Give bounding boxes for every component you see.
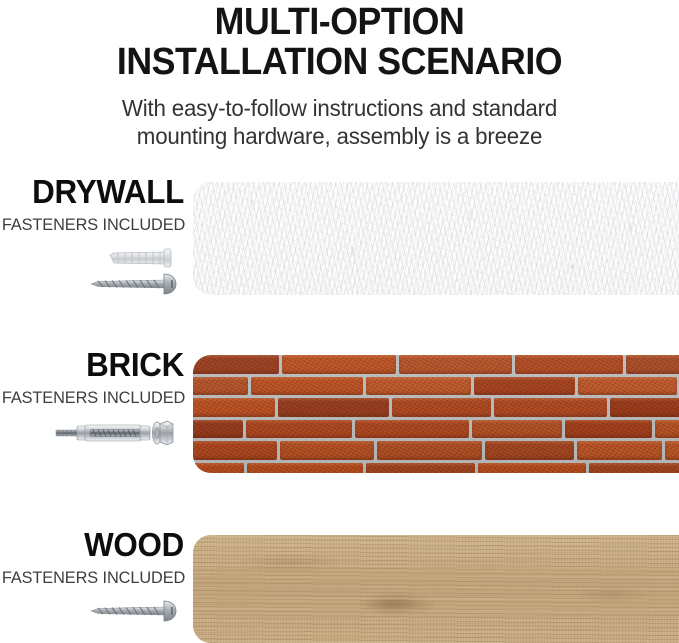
wood-hardware-group bbox=[0, 588, 184, 632]
brick-unit bbox=[377, 441, 482, 460]
brick-unit bbox=[655, 420, 679, 439]
brick-unit bbox=[247, 463, 363, 474]
title-line-1: MULTI-OPTION bbox=[215, 1, 465, 43]
brick-course bbox=[193, 377, 679, 396]
brick-course bbox=[193, 420, 679, 439]
brick-unit bbox=[278, 398, 388, 417]
wood-screw-icon bbox=[88, 598, 184, 624]
subtitle-line-1: With easy-to-follow instructions and sta… bbox=[122, 95, 557, 121]
brick-unit bbox=[392, 398, 492, 417]
material-name-brick: BRICK bbox=[9, 348, 184, 382]
brick-course bbox=[193, 355, 679, 374]
brick-unit bbox=[565, 420, 652, 439]
header: MULTI-OPTION INSTALLATION SCENARIO With … bbox=[0, 0, 679, 150]
title-line-2: INSTALLATION SCENARIO bbox=[20, 42, 658, 82]
brick-unit bbox=[193, 463, 244, 474]
brick-unit bbox=[282, 355, 395, 374]
sleeve-anchor-icon bbox=[54, 418, 184, 448]
brick-course bbox=[193, 398, 679, 417]
brick-course bbox=[193, 441, 679, 460]
wall-anchor-icon bbox=[106, 245, 184, 271]
fasteners-included-wood: FASTENERS INCLUDED bbox=[2, 562, 184, 588]
brick-unit bbox=[193, 420, 243, 439]
brick-unit bbox=[577, 441, 662, 460]
brick-unit bbox=[355, 420, 469, 439]
brick-texture bbox=[193, 355, 679, 473]
brick-unit bbox=[589, 463, 679, 474]
brick-unit bbox=[665, 441, 679, 460]
brick-label-column: BRICK FASTENERS INCLUDED bbox=[0, 348, 184, 452]
brick-course bbox=[193, 463, 679, 474]
brick-unit bbox=[280, 441, 374, 460]
material-row-brick: BRICK FASTENERS INCLUDED bbox=[0, 348, 679, 476]
brick-unit bbox=[366, 463, 475, 474]
brick-hardware-group bbox=[0, 408, 184, 452]
brick-unit bbox=[246, 420, 352, 439]
brick-unit bbox=[472, 420, 562, 439]
brick-unit bbox=[610, 398, 679, 417]
brick-unit bbox=[193, 398, 275, 417]
wood-label-column: WOOD FASTENERS INCLUDED bbox=[0, 528, 184, 632]
drywall-label-column: DRYWALL FASTENERS INCLUDED bbox=[0, 175, 184, 279]
brick-unit bbox=[399, 355, 512, 374]
brick-unit bbox=[193, 377, 248, 396]
brick-unit bbox=[626, 355, 679, 374]
wood-surface-panel bbox=[193, 535, 679, 643]
brick-unit bbox=[494, 398, 607, 417]
fasteners-included-drywall: FASTENERS INCLUDED bbox=[2, 209, 184, 235]
brick-unit bbox=[474, 377, 575, 396]
wood-texture bbox=[193, 535, 679, 643]
brick-unit bbox=[485, 441, 574, 460]
brick-unit bbox=[251, 377, 362, 396]
material-name-wood: WOOD bbox=[9, 528, 184, 562]
brick-surface-panel bbox=[193, 355, 679, 473]
fasteners-included-brick: FASTENERS INCLUDED bbox=[2, 382, 184, 408]
brick-unit bbox=[193, 355, 279, 374]
brick-unit bbox=[366, 377, 472, 396]
page-title: MULTI-OPTION INSTALLATION SCENARIO bbox=[20, 0, 658, 82]
page-subtitle: With easy-to-follow instructions and sta… bbox=[10, 82, 669, 150]
drywall-surface-panel bbox=[193, 182, 679, 295]
brick-unit bbox=[478, 463, 586, 474]
brick-unit bbox=[515, 355, 624, 374]
material-name-drywall: DRYWALL bbox=[9, 175, 184, 209]
subtitle-line-2: mounting hardware, assembly is a breeze bbox=[10, 122, 669, 150]
screw-icon bbox=[88, 271, 184, 297]
drywall-texture bbox=[193, 182, 679, 295]
drywall-hardware-group bbox=[0, 235, 184, 279]
material-row-wood: WOOD FASTENERS INCLUDED bbox=[0, 528, 679, 643]
brick-unit bbox=[578, 377, 677, 396]
material-row-drywall: DRYWALL FASTENERS INCLUDED bbox=[0, 175, 679, 303]
brick-unit bbox=[193, 441, 277, 460]
